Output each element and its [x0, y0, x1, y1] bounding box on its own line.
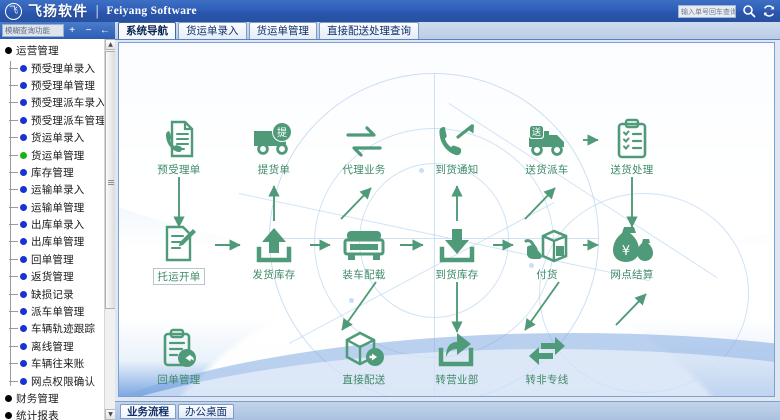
tab-1[interactable]: 货运单录入 — [178, 22, 247, 39]
flow-node-label: 送货派车 — [512, 162, 582, 177]
sidebar-item-0-14[interactable]: 派车单管理 — [0, 303, 115, 320]
box-arrow-icon — [329, 328, 399, 370]
svg-text:提: 提 — [277, 127, 287, 139]
item-bullet-icon — [20, 360, 27, 367]
sidebar-item-label: 货运单管理 — [31, 148, 85, 163]
sidebar-item-0-5[interactable]: 货运单管理 — [0, 146, 115, 163]
brand-name-en: Feiyang Software — [106, 5, 197, 17]
item-bullet-icon — [20, 65, 27, 72]
sidebar-expand-button[interactable]: + — [64, 24, 80, 38]
flow-node-label: 提货单 — [239, 162, 309, 177]
flow-node-arrive-stock[interactable]: 到货库存 — [422, 223, 492, 282]
flow-node-label: 直接配送 — [329, 372, 399, 387]
app-header: 飞 飞扬软件 | Feiyang Software 输入单号回车查询 — [0, 0, 780, 22]
sidebar-search-input[interactable]: 模糊查询功能 — [2, 24, 64, 37]
sidebar-item-0-3[interactable]: 预受理派车管理 — [0, 112, 115, 129]
phone-call-icon — [422, 118, 492, 160]
flow-node-label: 送货处理 — [597, 162, 667, 177]
flow-node-label: 付货 — [512, 267, 582, 282]
item-bullet-icon — [20, 256, 27, 263]
group-bullet-icon — [5, 47, 12, 54]
item-bullet-icon — [20, 273, 27, 280]
item-bullet-icon — [20, 238, 27, 245]
application-window: 飞 飞扬软件 | Feiyang Software 输入单号回车查询 模糊查询功… — [0, 0, 780, 420]
flow-node-label: 转营业部 — [422, 372, 492, 387]
item-bullet-icon — [20, 82, 27, 89]
sidebar-item-label: 预受理派车管理 — [31, 113, 106, 128]
sidebar-item-label: 车辆往来账 — [31, 356, 85, 371]
flow-node-receipt-mgmt[interactable]: 回单管理 — [144, 328, 214, 387]
navigation-tree[interactable]: 运营管理预受理单录入预受理单管理预受理派车录入预受理派车管理货运单录入货运单管理… — [0, 39, 115, 420]
group-bullet-icon — [5, 395, 12, 402]
front-truck-icon — [329, 223, 399, 265]
flow-node-load-truck[interactable]: 装车配载 — [329, 223, 399, 282]
sidebar: 模糊查询功能 + − ← 运营管理预受理单录入预受理单管理预受理派车录入预受理派… — [0, 22, 115, 420]
flow-node-consign-open[interactable]: 托运开单 — [144, 223, 214, 285]
money-bag-icon: ¥ — [597, 223, 667, 265]
svg-text:送: 送 — [532, 126, 541, 138]
bottom-tab-0[interactable]: 业务流程 — [120, 404, 176, 419]
sidebar-item-0-15[interactable]: 车辆轨迹跟踪 — [0, 320, 115, 337]
flow-node-label: 预受理单 — [144, 162, 214, 177]
arrow-pay-goods-to-to-nonline — [525, 282, 559, 330]
item-bullet-icon — [20, 169, 27, 176]
sidebar-item-0-13[interactable]: 缺损记录 — [0, 285, 115, 302]
sidebar-item-label: 网点权限确认 — [31, 374, 95, 389]
item-bullet-icon — [20, 117, 27, 124]
document-phone-icon — [144, 118, 214, 160]
sidebar-item-0-0[interactable]: 预受理单录入 — [0, 59, 115, 76]
download-tray-icon — [422, 223, 492, 265]
sidebar-item-0-1[interactable]: 预受理单管理 — [0, 77, 115, 94]
exchange-arrows-icon — [329, 118, 399, 160]
item-bullet-icon — [20, 204, 27, 211]
item-bullet-icon — [20, 186, 27, 193]
sidebar-item-label: 运输单录入 — [31, 182, 85, 197]
arrow-load-truck-to-direct-deliv — [342, 282, 376, 330]
item-bullet-icon — [20, 152, 27, 159]
sidebar-item-label: 预受理单管理 — [31, 78, 95, 93]
flow-node-label: 网点结算 — [597, 267, 667, 282]
sidebar-group-label: 统计报表 — [16, 408, 59, 420]
tab-2[interactable]: 货运单管理 — [249, 22, 318, 39]
sidebar-item-0-2[interactable]: 预受理派车录入 — [0, 94, 115, 111]
sidebar-back-button[interactable]: ← — [97, 24, 113, 38]
sidebar-group-2[interactable]: 统计报表 — [0, 407, 115, 420]
scroll-down-icon[interactable]: ▼ — [105, 409, 115, 420]
flow-node-label: 回单管理 — [144, 372, 214, 387]
sidebar-item-0-17[interactable]: 车辆往来账 — [0, 355, 115, 372]
flow-node-label: 到货通知 — [422, 162, 492, 177]
flow-node-arrival-note[interactable]: 到货通知 — [422, 118, 492, 177]
sidebar-item-0-4[interactable]: 货运单录入 — [0, 129, 115, 146]
main-panel: 系统导航货运单录入货运单管理直接配送处理查询 预受理单提提货单代理业务到货通知送… — [115, 22, 780, 420]
flow-node-delivery-proc[interactable]: 送货处理 — [597, 118, 667, 177]
flow-node-label: 代理业务 — [329, 162, 399, 177]
flow-node-to-nonline[interactable]: 转非专线 — [512, 328, 582, 387]
bottom-tab-1[interactable]: 办公桌面 — [178, 404, 234, 419]
refresh-icon[interactable] — [761, 4, 776, 19]
sidebar-group-0[interactable]: 运营管理 — [0, 42, 115, 59]
loop-arrows-icon — [512, 328, 582, 370]
pickup-truck-icon: 提 — [239, 118, 309, 160]
search-icon[interactable] — [741, 4, 756, 19]
sidebar-item-0-6[interactable]: 库存管理 — [0, 164, 115, 181]
sidebar-item-label: 出库单录入 — [31, 217, 85, 232]
arrow-load-truck-to-agent-biz — [341, 188, 371, 219]
brand-logo-icon: 飞 — [5, 3, 22, 20]
tab-0[interactable]: 系统导航 — [118, 22, 176, 39]
flow-node-label: 到货库存 — [422, 267, 492, 282]
tab-3[interactable]: 直接配送处理查询 — [319, 22, 419, 39]
flow-node-pre-accept[interactable]: 预受理单 — [144, 118, 214, 177]
item-bullet-icon — [20, 378, 27, 385]
item-bullet-icon — [20, 99, 27, 106]
flow-node-delivery-van[interactable]: 送送货派车 — [512, 118, 582, 177]
flow-node-label: 托运开单 — [153, 268, 204, 285]
sidebar-item-0-12[interactable]: 返货管理 — [0, 268, 115, 285]
sidebar-item-label: 车辆轨迹跟踪 — [31, 321, 95, 336]
workflow-canvas: 预受理单提提货单代理业务到货通知送送货派车送货处理托运开单发货库存装车配载到货库… — [118, 42, 775, 397]
sidebar-item-label: 返货管理 — [31, 269, 74, 284]
arrow-pay-goods-to-delivery-van — [525, 188, 555, 219]
flow-node-pay-goods[interactable]: 付货 — [512, 223, 582, 282]
sidebar-item-0-7[interactable]: 运输单录入 — [0, 181, 115, 198]
sidebar-item-0-11[interactable]: 回单管理 — [0, 251, 115, 268]
sidebar-item-0-8[interactable]: 运输单管理 — [0, 199, 115, 216]
bottom-tab-bar[interactable]: 业务流程办公桌面 — [115, 401, 780, 420]
flow-node-branch-settle[interactable]: ¥网点结算 — [597, 223, 667, 282]
item-bullet-icon — [20, 291, 27, 298]
flow-node-agent-biz[interactable]: 代理业务 — [329, 118, 399, 177]
clipboard-return-icon — [144, 328, 214, 370]
tab-bar[interactable]: 系统导航货运单录入货运单管理直接配送处理查询 — [115, 22, 780, 40]
flow-node-label: 转非专线 — [512, 372, 582, 387]
sidebar-toolbar: 模糊查询功能 + − ← — [0, 22, 115, 39]
sidebar-item-label: 运输单管理 — [31, 200, 85, 215]
arrow-to-nonline-to-branch-settle — [616, 294, 646, 325]
sidebar-group-label: 运营管理 — [16, 43, 59, 58]
header-tools: 输入单号回车查询 — [678, 0, 776, 22]
share-out-icon — [422, 328, 492, 370]
brand-name-cn: 飞扬软件 — [28, 1, 88, 21]
sidebar-item-label: 库存管理 — [31, 165, 74, 180]
tree-vertical-line — [10, 61, 11, 386]
item-bullet-icon — [20, 221, 27, 228]
flow-node-pickup-order[interactable]: 提提货单 — [239, 118, 309, 177]
hand-box-icon — [512, 223, 582, 265]
sidebar-item-0-10[interactable]: 出库单管理 — [0, 233, 115, 250]
sidebar-item-label: 预受理单录入 — [31, 61, 95, 76]
global-search-input[interactable]: 输入单号回车查询 — [678, 5, 736, 18]
flow-node-ship-stock[interactable]: 发货库存 — [239, 223, 309, 282]
sidebar-collapse-button[interactable]: − — [80, 24, 96, 38]
item-bullet-icon — [20, 325, 27, 332]
scroll-up-icon[interactable]: ▲ — [105, 39, 115, 50]
flow-node-label: 发货库存 — [239, 267, 309, 282]
item-bullet-icon — [20, 134, 27, 141]
item-bullet-icon — [20, 343, 27, 350]
sidebar-item-0-9[interactable]: 出库单录入 — [0, 216, 115, 233]
sidebar-item-label: 货运单录入 — [31, 130, 85, 145]
flow-node-to-branch[interactable]: 转营业部 — [422, 328, 492, 387]
group-bullet-icon — [5, 412, 12, 419]
brand-separator: | — [95, 4, 99, 19]
upload-tray-icon — [239, 223, 309, 265]
sidebar-item-label: 缺损记录 — [31, 287, 74, 302]
sidebar-group-1[interactable]: 财务管理 — [0, 390, 115, 407]
delivery-truck-icon: 送 — [512, 118, 582, 160]
document-pen-icon — [144, 223, 214, 265]
sidebar-item-0-16[interactable]: 离线管理 — [0, 338, 115, 355]
scrollbar-thumb[interactable] — [105, 51, 115, 309]
sidebar-item-label: 派车单管理 — [31, 304, 85, 319]
svg-text:¥: ¥ — [622, 244, 630, 259]
sidebar-item-label: 出库单管理 — [31, 234, 85, 249]
flow-node-label: 装车配载 — [329, 267, 399, 282]
clipboard-check-icon — [597, 118, 667, 160]
sidebar-group-label: 财务管理 — [16, 391, 59, 406]
item-bullet-icon — [20, 308, 27, 315]
sidebar-item-label: 离线管理 — [31, 339, 74, 354]
sidebar-scrollbar[interactable]: ▲ ▼ — [104, 39, 115, 420]
sidebar-item-label: 回单管理 — [31, 252, 74, 267]
sidebar-item-label: 预受理派车录入 — [31, 95, 106, 110]
sidebar-item-0-18[interactable]: 网点权限确认 — [0, 372, 115, 389]
flow-node-direct-deliv[interactable]: 直接配送 — [329, 328, 399, 387]
